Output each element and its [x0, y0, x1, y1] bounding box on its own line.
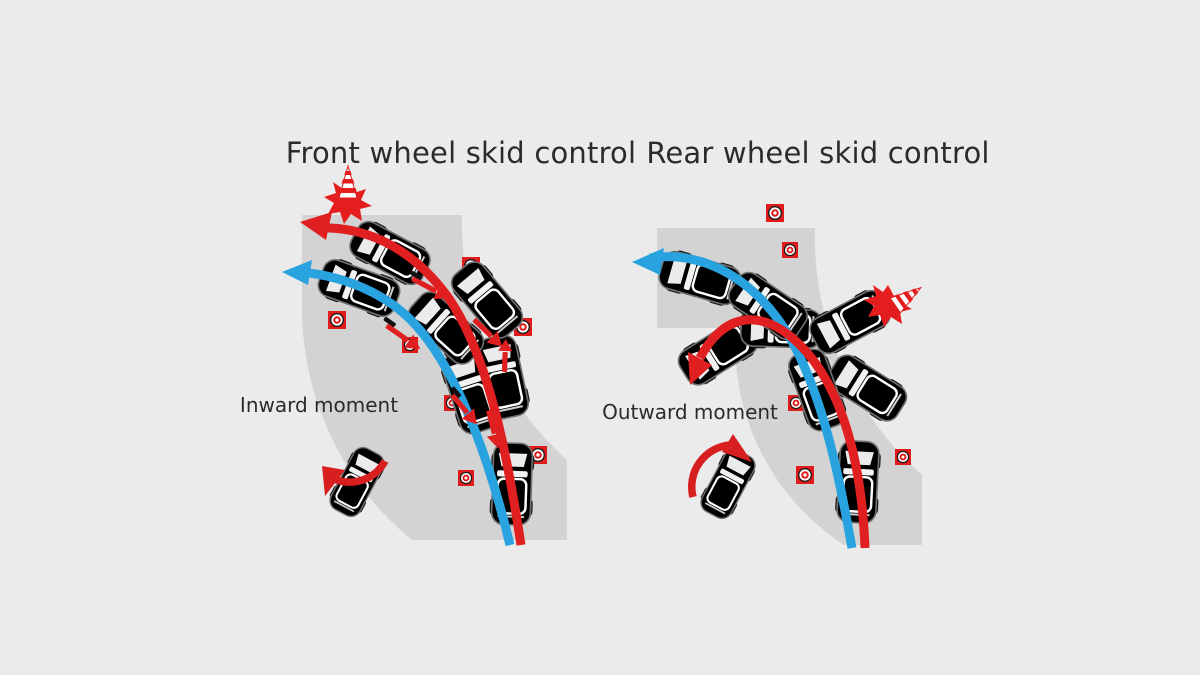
page-title-front: Front wheel skid control [286, 136, 637, 170]
outward-moment-label: Outward moment [602, 400, 778, 424]
brake-sensor-icon [766, 204, 784, 222]
brake-sensor-icon [458, 470, 474, 486]
skid-control-diagram: Front wheel skid control [0, 0, 1200, 675]
diagram-canvas: Front wheel skid control [0, 0, 1200, 675]
brake-sensor-icon [796, 466, 814, 484]
inward-moment-label: Inward moment [240, 393, 398, 417]
brake-sensor-icon [782, 242, 798, 258]
brake-sensor-icon [328, 311, 346, 329]
page-title-rear: Rear wheel skid control [646, 136, 989, 170]
background [0, 0, 1200, 675]
brake-sensor-icon [895, 449, 911, 465]
